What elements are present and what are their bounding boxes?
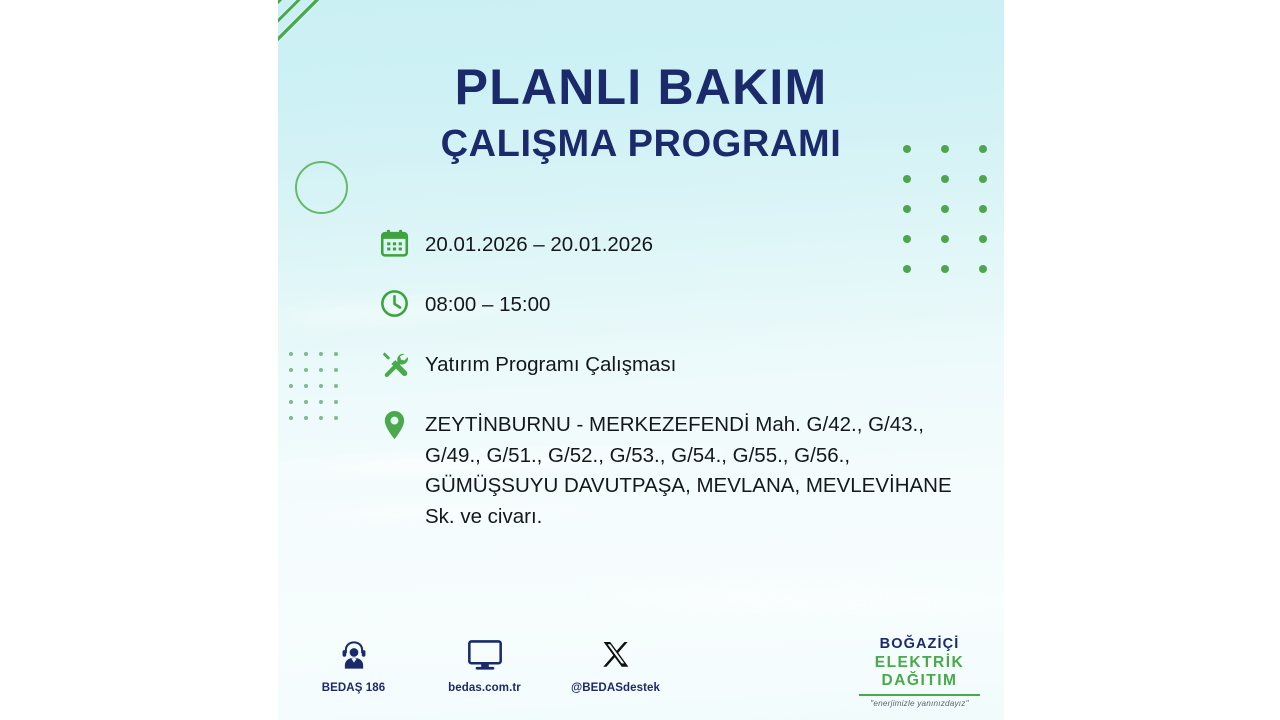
detail-row-address: ZEYTİNBURNU - MERKEZEFENDİ Mah. G/42., G… <box>379 406 989 532</box>
detail-row-time: 08:00 – 15:00 <box>379 286 989 324</box>
location-pin-icon <box>379 406 425 445</box>
calendar-icon <box>379 226 425 264</box>
contact-x-twitter[interactable]: @BEDASdestek <box>568 635 663 694</box>
work-type-value: Yatırım Programı Çalışması <box>425 346 676 381</box>
screenshot-root: PLANLI BAKIM ÇALIŞMA PROGRAMI <box>0 0 1280 720</box>
monitor-icon <box>437 635 532 675</box>
address-value: ZEYTİNBURNU - MERKEZEFENDİ Mah. G/42., G… <box>425 406 985 532</box>
circle-outline-decoration <box>295 161 348 214</box>
detail-row-work-type: Yatırım Programı Çalışması <box>379 346 989 384</box>
brand-line-dagitim: DAĞITIM <box>857 673 982 689</box>
bedas-logo: BOĞAZİÇİ ELEKTRİK DAĞITIM "enerjimizle y… <box>857 637 982 708</box>
brand-tagline: "enerjimizle yanınızdayız" <box>857 700 982 708</box>
brand-line-bogazici: BOĞAZİÇİ <box>857 637 982 652</box>
outage-details: 20.01.2026 – 20.01.2026 08:00 – 15:00 <box>379 226 989 532</box>
page-subtitle: ÇALIŞMA PROGRAMI <box>278 125 1004 163</box>
x-twitter-icon <box>568 635 663 675</box>
planli-bakim-poster: PLANLI BAKIM ÇALIŞMA PROGRAMI <box>278 0 1004 720</box>
contact-phone-label: BEDAŞ 186 <box>306 682 401 694</box>
contact-website-label: bedas.com.tr <box>437 682 532 694</box>
detail-row-date: 20.01.2026 – 20.01.2026 <box>379 226 989 264</box>
contact-x-twitter-label: @BEDASdestek <box>568 682 663 694</box>
contact-website[interactable]: bedas.com.tr <box>437 635 532 694</box>
brand-divider <box>859 694 980 696</box>
background-swoosh <box>578 585 1004 613</box>
contact-phone[interactable]: BEDAŞ 186 <box>306 635 401 694</box>
time-range-value: 08:00 – 15:00 <box>425 286 550 321</box>
poster-headline: PLANLI BAKIM ÇALIŞMA PROGRAMI <box>278 62 1004 163</box>
poster-footer: BEDAŞ 186 bedas.com.tr <box>278 635 1004 720</box>
tools-icon <box>379 346 425 384</box>
contact-channels: BEDAŞ 186 bedas.com.tr <box>306 635 663 694</box>
dot-grid-left-decoration <box>289 352 349 432</box>
headset-support-icon <box>306 635 401 675</box>
page-title: PLANLI BAKIM <box>278 62 1004 112</box>
clock-icon <box>379 286 425 324</box>
brand-line-elektrik: ELEKTRİK <box>857 655 982 671</box>
date-range-value: 20.01.2026 – 20.01.2026 <box>425 226 653 261</box>
